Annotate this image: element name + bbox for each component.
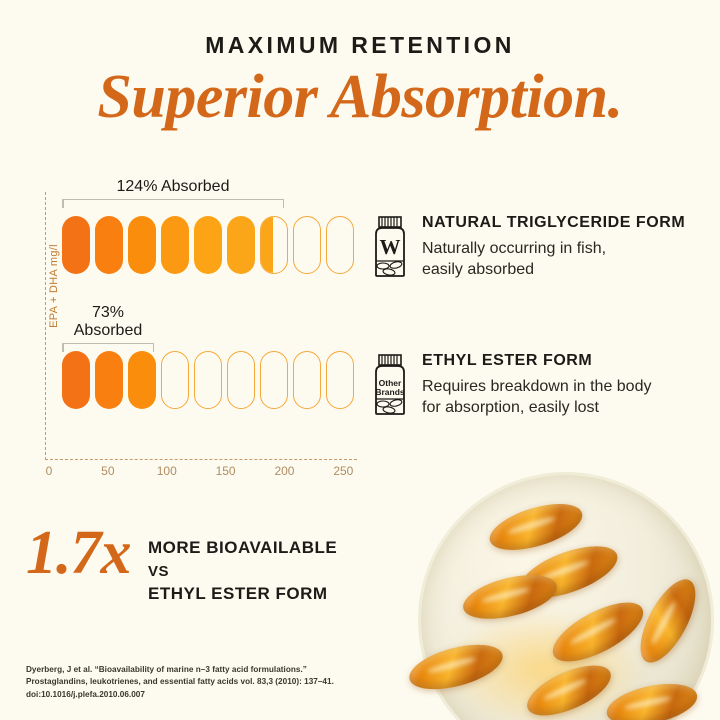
info-ethyl-desc-line1: Requires breakdown in the body	[422, 376, 720, 397]
info-ethyl-desc-line2: for absorption, easily lost	[422, 397, 720, 418]
capsule-empty	[326, 216, 354, 274]
callout-natural-label: 124% Absorbed	[62, 178, 284, 196]
capsule-filled	[194, 216, 222, 274]
page-title: Superior Absorption.	[0, 65, 720, 130]
capsule-empty	[194, 351, 222, 409]
capsule-filled	[62, 351, 90, 409]
stat-lines: MORE BIOAVAILABLE VS ETHYL ESTER FORM	[148, 528, 386, 607]
stat-line-2: VS	[148, 561, 386, 583]
capsule-filled	[128, 351, 156, 409]
capsule-filled	[95, 216, 123, 274]
absorption-chart: EPA + DHA mg/l 124% Absorbed 73% Absorbe…	[0, 176, 380, 468]
info-block-ethyl: Other Brands ETHYL ESTER FORM Requires b…	[370, 352, 720, 419]
stat-line-1: MORE BIOAVAILABLE	[148, 536, 386, 561]
stat-number: 1.7x	[26, 518, 131, 589]
y-axis-label: EPA + DHA mg/l	[48, 226, 60, 346]
info-ethyl-text: ETHYL ESTER FORM Requires breakdown in t…	[422, 352, 720, 419]
capsule-empty	[161, 351, 189, 409]
capsule-empty	[260, 351, 288, 409]
bar-row-natural	[62, 216, 354, 274]
header: MAXIMUM RETENTION Superior Absorption.	[0, 0, 720, 130]
capsule-group-ethyl	[62, 351, 354, 409]
info-ethyl-title: ETHYL ESTER FORM	[422, 352, 720, 370]
info-natural-desc-line2: easily absorbed	[422, 259, 720, 280]
bioavailability-stat: 1.7x MORE BIOAVAILABLE VS ETHYL ESTER FO…	[26, 528, 386, 607]
capsule-empty	[293, 351, 321, 409]
capsule-empty	[227, 351, 255, 409]
supplement-bottle-icon: Other Brands	[370, 354, 410, 421]
softgel-photo	[400, 460, 720, 720]
capsule-filled	[161, 216, 189, 274]
eyebrow-text: MAXIMUM RETENTION	[0, 32, 720, 59]
capsule-filled	[227, 216, 255, 274]
capsule-group-natural	[62, 216, 354, 274]
bottle-label-w: W	[380, 235, 401, 259]
callout-ethyl: 73% Absorbed	[62, 304, 154, 353]
callout-ethyl-percent: 73%	[62, 304, 154, 322]
callout-natural: 124% Absorbed	[62, 178, 284, 209]
supplement-bottle-icon: W	[370, 216, 410, 283]
capsule-empty	[326, 351, 354, 409]
capsule-filled	[95, 351, 123, 409]
capsule-filled	[128, 216, 156, 274]
citation-footnote: Dyerberg, J et al. “Bioavailability of m…	[26, 664, 356, 701]
x-tick-label: 50	[101, 464, 114, 478]
capsule-empty	[293, 216, 321, 274]
x-tick-label: 0	[46, 464, 53, 478]
x-tick-label: 250	[333, 464, 353, 478]
x-tick-label: 150	[216, 464, 236, 478]
x-tick-label: 200	[274, 464, 294, 478]
bar-row-ethyl	[62, 351, 354, 409]
x-tick-label: 100	[157, 464, 177, 478]
capsule-filled	[62, 216, 90, 274]
stat-line-3: ETHYL ESTER FORM	[148, 582, 386, 607]
info-natural-desc-line1: Naturally occurring in fish,	[422, 238, 720, 259]
info-block-natural: W NATURAL TRIGLYCERIDE FORM Naturally oc…	[370, 214, 720, 281]
capsule-half-filled	[260, 216, 288, 274]
bottle-label-brands: Brands	[375, 387, 405, 397]
callout-natural-bracket	[62, 199, 284, 209]
info-natural-title: NATURAL TRIGLYCERIDE FORM	[422, 214, 720, 232]
callout-ethyl-word: Absorbed	[62, 322, 154, 340]
x-axis-ticks: 050100150200250	[45, 464, 365, 484]
info-natural-text: NATURAL TRIGLYCERIDE FORM Naturally occu…	[422, 214, 720, 281]
